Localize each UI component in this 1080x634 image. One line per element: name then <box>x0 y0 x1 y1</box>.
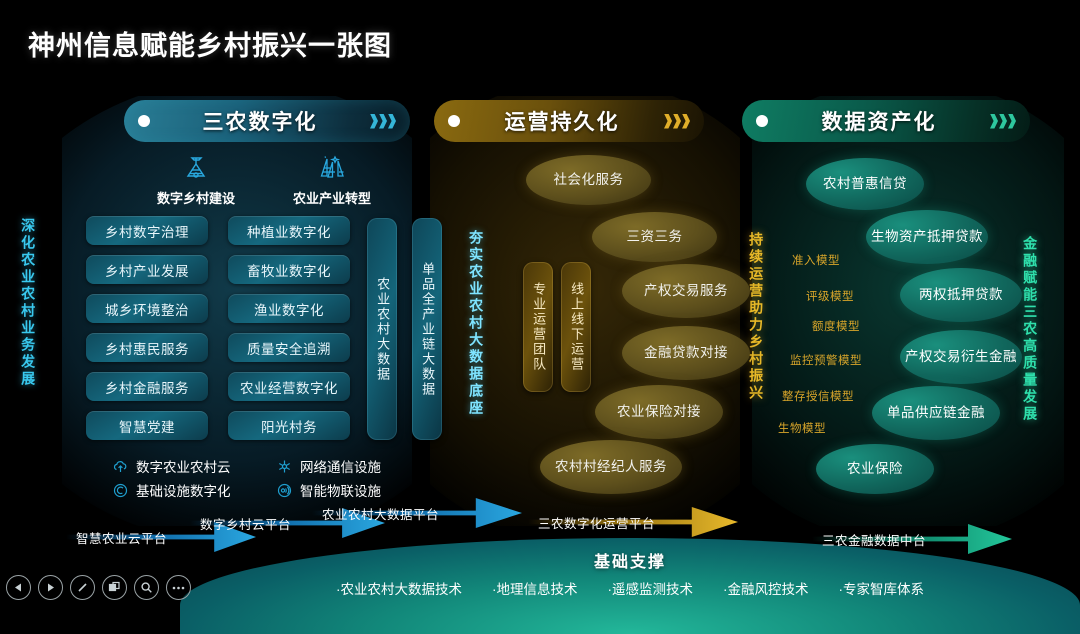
vchip-professional-operation-team[interactable]: 专业运营团队 <box>523 262 553 392</box>
chevrons-right-icon <box>990 114 1016 129</box>
forest-industry-icon <box>272 150 392 184</box>
ellipse-rural-inclusive-credit[interactable]: 农村普惠信贷 <box>806 158 924 210</box>
ellipse-biological-asset-mortgage-loan[interactable]: 生物资产抵押贷款 <box>866 210 988 264</box>
search-icon[interactable] <box>134 575 159 600</box>
ellipse-financial-loan-matching[interactable]: 金融贷款对接 <box>622 326 750 380</box>
ellipse-rural-broker-service[interactable]: 农村村经纪人服务 <box>540 440 682 494</box>
prev-icon[interactable] <box>6 575 31 600</box>
ellipse-property-rights-derivative-finance[interactable]: 产权交易衍生金融 <box>900 330 1022 384</box>
infographic-canvas: 神州信息赋能乡村振兴一张图 三农数字化 运营持久化 数据资产化 深化农业农村业务… <box>0 0 1080 607</box>
iot-signal-icon <box>276 482 293 499</box>
panel-header-operation-sustain[interactable]: 运营持久化 <box>434 100 704 142</box>
panel-title: 数据资产化 <box>768 106 990 136</box>
ellipse-property-rights-trading-service[interactable]: 产权交易服务 <box>622 264 750 318</box>
mini-item-infrastructure-digital[interactable]: 基础设施数字化 <box>112 480 231 500</box>
section-digital-village: 数字乡村建设 <box>136 150 256 207</box>
ellipse-agricultural-insurance[interactable]: 农业保险 <box>816 444 934 494</box>
chip-rural-financial-services[interactable]: 乡村金融服务 <box>86 372 208 401</box>
chip-quality-traceability[interactable]: 质量安全追溯 <box>228 333 350 362</box>
ellipse-two-rights-mortgage-loan[interactable]: 两权抵押贷款 <box>900 268 1022 322</box>
base-item: ·专家智库体系 <box>839 578 925 598</box>
chip-rural-benefit-services[interactable]: 乡村惠民服务 <box>86 333 208 362</box>
thumbnails-icon[interactable] <box>102 575 127 600</box>
chevrons-right-icon <box>664 114 690 129</box>
panel-header-sannong-digital[interactable]: 三农数字化 <box>124 100 410 142</box>
vchip-single-product-chain-bigdata[interactable]: 单品全产业链大数据 <box>412 218 442 440</box>
chevrons-right-icon <box>370 114 396 129</box>
edge-label-left: 深化农业农村业务发展 <box>20 218 36 388</box>
chip-smart-party-building[interactable]: 智慧党建 <box>86 411 208 440</box>
spiral-icon <box>112 482 129 499</box>
chip-livestock-digital[interactable]: 畜牧业数字化 <box>228 255 350 284</box>
panel-title: 运营持久化 <box>460 106 664 136</box>
model-label-admission: 准入模型 <box>792 252 840 268</box>
model-label-rating: 评级模型 <box>806 288 854 304</box>
village-build-icon <box>136 150 256 184</box>
ellipse-single-product-supply-chain-finance[interactable]: 单品供应链金融 <box>872 386 1000 440</box>
chip-rural-industry-development[interactable]: 乡村产业发展 <box>86 255 208 284</box>
mini-item-network-facility[interactable]: 网络通信设施 <box>276 456 381 476</box>
model-label-quota: 额度模型 <box>812 318 860 334</box>
edge-label-data-base: 夯实农业农村大数据底座 <box>468 230 484 417</box>
bullet-dot-icon <box>448 115 460 127</box>
viewer-toolbar[interactable] <box>6 575 191 600</box>
pen-icon[interactable] <box>70 575 95 600</box>
section-label: 数字乡村建设 <box>136 188 256 207</box>
base-item: ·遥感监测技术 <box>608 578 694 598</box>
mini-item-label: 智能物联设施 <box>300 480 381 500</box>
chip-urban-rural-environment[interactable]: 城乡环境整治 <box>86 294 208 323</box>
chip-planting-digital[interactable]: 种植业数字化 <box>228 216 350 245</box>
panel-header-data-assetization[interactable]: 数据资产化 <box>742 100 1030 142</box>
base-title: 基础支撑 <box>180 548 1080 572</box>
chip-sunshine-village-affairs[interactable]: 阳光村务 <box>228 411 350 440</box>
section-label: 农业产业转型 <box>272 188 392 207</box>
model-label-whole-credit: 整存授信模型 <box>782 388 854 404</box>
more-icon[interactable] <box>166 575 191 600</box>
ellipse-three-assets-three-affairs[interactable]: 三资三务 <box>592 212 717 262</box>
bullet-dot-icon <box>756 115 768 127</box>
section-agri-transform: 农业产业转型 <box>272 150 392 207</box>
panel-title: 三农数字化 <box>150 106 370 136</box>
ellipse-social-services[interactable]: 社会化服务 <box>526 155 651 205</box>
cloud-up-icon <box>112 458 129 475</box>
bullet-dot-icon <box>138 115 150 127</box>
network-node-icon <box>276 458 293 475</box>
mini-item-label: 网络通信设施 <box>300 456 381 476</box>
mini-item-iot-facility[interactable]: 智能物联设施 <box>276 480 381 500</box>
base-item: ·地理信息技术 <box>492 578 578 598</box>
model-label-biological: 生物模型 <box>778 420 826 436</box>
chip-fishery-digital[interactable]: 渔业数字化 <box>228 294 350 323</box>
mini-item-label: 基础设施数字化 <box>136 480 231 500</box>
base-support-section: 基础支撑 ·农业农村大数据技术 ·地理信息技术 ·遥感监测技术 ·金融风控技术 … <box>180 538 1080 634</box>
base-items: ·农业农村大数据技术 ·地理信息技术 ·遥感监测技术 ·金融风控技术 ·专家智库… <box>180 578 1080 598</box>
next-icon[interactable] <box>38 575 63 600</box>
vchip-agri-rural-bigdata[interactable]: 农业农村大数据 <box>367 218 397 440</box>
chip-rural-digital-governance[interactable]: 乡村数字治理 <box>86 216 208 245</box>
mini-item-digital-agri-cloud[interactable]: 数字农业农村云 <box>112 456 231 476</box>
base-item: ·农业农村大数据技术 <box>336 578 462 598</box>
edge-label-operation: 持续运营助力乡村振兴 <box>748 232 764 402</box>
vchip-online-offline-operation[interactable]: 线上线下运营 <box>561 262 591 392</box>
ellipse-agri-insurance-matching[interactable]: 农业保险对接 <box>595 385 723 439</box>
mini-item-label: 数字农业农村云 <box>136 456 231 476</box>
base-item: ·金融风控技术 <box>723 578 809 598</box>
edge-label-finance: 金融赋能三农高质量发展 <box>1022 236 1038 423</box>
model-label-monitoring-warning: 监控预警模型 <box>790 352 862 368</box>
ribbon-sannong-digital-operation-platform[interactable]: 三农数字化运营平台 <box>528 507 738 537</box>
page-title: 神州信息赋能乡村振兴一张图 <box>28 24 392 63</box>
chip-agri-operation-digital[interactable]: 农业经营数字化 <box>228 372 350 401</box>
